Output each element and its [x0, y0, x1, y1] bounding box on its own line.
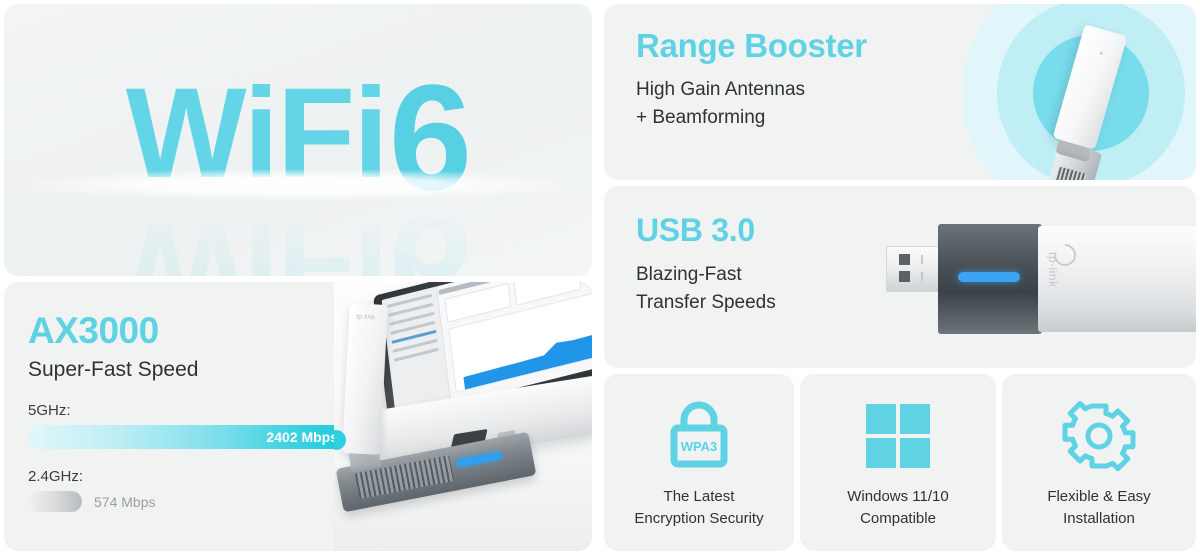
speed-bar-5ghz: 2402 Mbps — [28, 425, 350, 449]
wifi6-logo-stage: WiFi6 WiFi6 — [4, 4, 592, 276]
usb-contact-line — [921, 272, 923, 281]
usb-adapter-graphic: tp-link — [886, 224, 1196, 334]
usb-adapter-dark-body — [938, 224, 1042, 334]
feature-card-caption-windows: Windows 11/10 Compatible — [808, 486, 988, 530]
usb-contact-line — [921, 255, 923, 264]
usb3-title: USB 3.0 — [636, 212, 755, 249]
adapter-brand-mark: tp-link — [356, 313, 375, 321]
band-label-24ghz: 2.4GHz: — [28, 468, 358, 485]
caption-line1: The Latest — [612, 486, 786, 508]
tplink-wordmark: tp-link — [1046, 252, 1060, 288]
wifi6-logo-reflection: WiFi6 — [126, 190, 470, 276]
windows-logo-icon — [866, 400, 930, 472]
speed-value-24ghz: 574 Mbps — [94, 494, 155, 510]
caption-line2: Encryption Security — [612, 508, 786, 530]
usb-a-connector — [886, 246, 944, 292]
range-booster-panel: Range Booster High Gain Antennas + Beamf… — [604, 4, 1196, 180]
gear-svg — [1062, 400, 1136, 472]
product-feature-board: WiFi6 WiFi6 AX3000 Super-Fast Speed 5GHz… — [0, 0, 1200, 555]
laptop-with-adapter-photo: tp-link — [334, 282, 592, 551]
adapter-antenna: tp-link — [342, 303, 388, 455]
band-bar-row-5ghz: 2402 Mbps — [28, 425, 358, 449]
padlock-wpa3-icon: WPA3 — [660, 400, 738, 472]
windows-square — [866, 404, 896, 434]
usb-adapter-cap: tp-link — [1038, 226, 1196, 332]
screen-sidebar — [382, 286, 452, 418]
caption-line1: Flexible & Easy — [1010, 486, 1188, 508]
range-booster-line1: High Gain Antennas — [636, 79, 805, 101]
band-bar-row-24ghz: 574 Mbps — [28, 491, 358, 512]
range-booster-title: Range Booster — [636, 27, 867, 65]
padlock-wpa3-svg: WPA3 — [660, 400, 738, 472]
caption-line1: Windows 11/10 — [808, 486, 988, 508]
ax3000-title: AX3000 — [28, 310, 159, 352]
windows-square — [900, 404, 930, 434]
adapter-vents — [1047, 166, 1087, 180]
feature-card-installation[interactable]: Flexible & Easy Installation — [1002, 374, 1196, 551]
wifi6-hero-panel: WiFi6 WiFi6 — [4, 4, 592, 276]
usb-contact-pad — [899, 271, 910, 282]
range-booster-adapter-graphic — [1064, 28, 1122, 180]
wifi6-reflection-word: WiFi — [126, 197, 387, 276]
reflection-glow — [34, 170, 562, 200]
windows-logo-grid — [866, 404, 930, 468]
feature-card-encryption[interactable]: WPA3 The Latest Encryption Security — [604, 374, 794, 551]
ax3000-speed-panel: AX3000 Super-Fast Speed 5GHz: 2402 Mbps … — [4, 282, 592, 551]
usb3-line2: Transfer Speeds — [636, 292, 776, 314]
feature-card-windows[interactable]: Windows 11/10 Compatible — [800, 374, 996, 551]
ax3000-subtitle: Super-Fast Speed — [28, 358, 198, 382]
band-label-5ghz: 5GHz: — [28, 402, 358, 419]
caption-line2: Installation — [1010, 508, 1188, 530]
range-booster-line2: + Beamforming — [636, 107, 765, 129]
caption-line2: Compatible — [808, 508, 988, 530]
windows-square — [866, 438, 896, 468]
usb-contact-pad — [899, 254, 910, 265]
adapter-led-indicator — [456, 451, 503, 468]
usb3-panel: USB 3.0 Blazing-Fast Transfer Speeds tp-… — [604, 186, 1196, 368]
band-row-5ghz: 5GHz: 2402 Mbps — [28, 402, 358, 449]
antenna-dot — [1099, 51, 1103, 55]
usb-led-indicator — [958, 272, 1020, 282]
usb3-line1: Blazing-Fast — [636, 264, 742, 286]
speed-bar-24ghz — [28, 491, 82, 512]
band-row-24ghz: 2.4GHz: 574 Mbps — [28, 468, 358, 512]
adapter-antenna-raised — [1053, 24, 1128, 150]
gear-icon — [1062, 400, 1136, 472]
wpa3-badge-text: WPA3 — [681, 439, 718, 454]
windows-square — [900, 438, 930, 468]
feature-card-caption-installation: Flexible & Easy Installation — [1010, 486, 1188, 530]
feature-card-caption-encryption: The Latest Encryption Security — [612, 486, 786, 530]
